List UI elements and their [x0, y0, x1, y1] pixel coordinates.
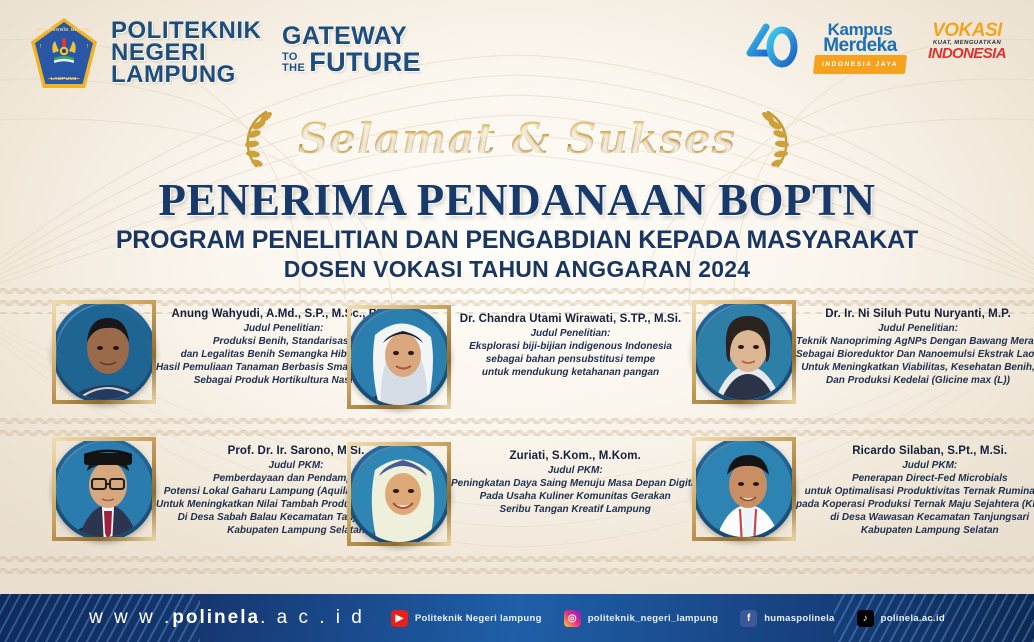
tagline-gateway-to-the-future: GATEWAY TO THE FUTURE	[282, 24, 421, 76]
url-suffix: . a c . i d	[260, 607, 365, 628]
url-brand: polinela	[172, 607, 260, 628]
footer: w w w .polinela. a c . i d ▶ Politeknik …	[0, 594, 1034, 642]
youtube-icon: ▶	[391, 610, 408, 627]
recipient-text: Ricardo Silaban, S.Pt., M.Si. Judul PKM:…	[796, 437, 1034, 537]
recipient-photo	[52, 437, 156, 541]
recipient-label: Judul Penelitian:	[451, 327, 690, 340]
recipient-photo	[347, 442, 451, 546]
recipients-row-2: Prof. Dr. Ir. Sarono, M.Si. Judul PKM: P…	[0, 433, 1034, 546]
recipient-card: Prof. Dr. Ir. Sarono, M.Si. Judul PKM: P…	[0, 433, 345, 546]
subtitle-line-2: DOSEN VOKASI TAHUN ANGGARAN 2024	[0, 255, 1034, 283]
url-prefix: w w w .	[89, 607, 172, 628]
recipient-photo	[692, 437, 796, 541]
recipient-card: Anung Wahyudi, A.Md., S.P., M.Sc., Ph.D …	[0, 296, 345, 436]
recipient-title-line: di Desa Wawasan Kecamatan Tanjungsari	[796, 511, 1034, 524]
recipient-title-line: sebagai bahan pensubstitusi tempe	[451, 353, 690, 366]
recipient-label: Judul PKM:	[796, 459, 1034, 472]
institution-name: POLITEKNIK NEGERI LAMPUNG	[111, 20, 261, 86]
avatar	[52, 437, 156, 541]
avatar	[692, 300, 796, 404]
facebook-icon: f	[740, 610, 757, 627]
recipient-title-line: untuk mendukung ketahanan pangan	[451, 366, 690, 379]
vokasi-line-3: INDONESIA	[922, 46, 1012, 61]
poster-canvas: POLITEKNIK NEGERI LAMPUNG POLITEKNIK NEG…	[0, 0, 1034, 642]
recipient-title-line: untuk Optimalisasi Produktivitas Ternak …	[796, 485, 1034, 498]
recipient-text: Dr. Ir. Ni Siluh Putu Nuryanti, M.P. Jud…	[796, 300, 1034, 387]
avatar	[347, 442, 451, 546]
recipient-title-line: Teknik Nanopriming AgNPs Dengan Bawang M…	[796, 335, 1034, 348]
wreath-left-icon	[226, 108, 282, 170]
seal-top-text: POLITEKNIK NEGERI	[31, 27, 97, 32]
recipient-card: Dr. Ir. Ni Siluh Putu Nuryanti, M.P. Jud…	[690, 296, 1034, 436]
social-handle: Politeknik Negeri lampung	[415, 613, 542, 624]
recipient-title-line: pada Koperasi Produksi Ternak Maju Sejah…	[796, 498, 1034, 511]
recipient-text: Dr. Chandra Utami Wirawati, S.TP., M.Si.…	[451, 305, 690, 379]
social-handle: politeknik_negeri_lampung	[588, 613, 719, 624]
partner-logos: Kampus Merdeka INDONESIA JAYA VOKASI KUA…	[742, 21, 1012, 71]
social-links: ▶ Politeknik Negeri lampung ◎ politeknik…	[391, 610, 945, 627]
website-url[interactable]: w w w .polinela. a c . i d	[89, 607, 365, 629]
recipient-photo	[347, 305, 451, 409]
vokasi-logo: VOKASI KUAT, MENGUATKAN INDONESIA	[922, 22, 1012, 70]
social-link-facebook[interactable]: f humaspolinela	[740, 610, 834, 627]
recipient-name: Zuriati, S.Kom., M.Kom.	[451, 450, 699, 462]
social-handle: humaspolinela	[764, 613, 834, 624]
recipient-text: Zuriati, S.Kom., M.Kom. Judul PKM: Penin…	[451, 442, 699, 516]
recipient-title-line: Kabupaten Lampung Selatan	[796, 524, 1034, 537]
tagline-line-2: FUTURE	[309, 49, 421, 76]
vokasi-line-2: KUAT, MENGUATKAN	[922, 40, 1012, 46]
social-link-instagram[interactable]: ◎ politeknik_negeri_lampung	[564, 610, 719, 627]
tagline-small-the: THE	[282, 63, 305, 74]
recipient-card: Ricardo Silaban, S.Pt., M.Si. Judul PKM:…	[690, 433, 1034, 546]
main-title: PENERIMA PENDANAAN BOPTN	[0, 175, 1034, 225]
recipient-card: Dr. Chandra Utami Wirawati, S.TP., M.Si.…	[345, 296, 690, 436]
recipient-card: Zuriati, S.Kom., M.Kom. Judul PKM: Penin…	[345, 433, 690, 546]
recipient-title-line: Sebagai Bioreduktor Dan Nanoemulsi Ekstr…	[796, 348, 1034, 361]
avatar	[52, 300, 156, 404]
kampus-merdeka-logo: Kampus Merdeka INDONESIA JAYA	[814, 22, 906, 70]
institution-name-line-3: LAMPUNG	[111, 64, 261, 86]
polinela-seal-icon: POLITEKNIK NEGERI LAMPUNG	[31, 18, 97, 88]
anniversary-40-icon	[742, 21, 798, 71]
wreath-right-icon	[752, 108, 808, 170]
recipient-name: Dr. Chandra Utami Wirawati, S.TP., M.Si.	[451, 313, 690, 325]
recipient-title-line: Eksplorasi biji-bijian indigenous Indone…	[451, 340, 690, 353]
recipient-label: Judul PKM:	[451, 464, 699, 477]
script-heading-row: Selamat & Sukses	[0, 105, 1034, 173]
title-block: Selamat & Sukses PENERIMA PENDANAAN BOPT…	[0, 105, 1034, 283]
subtitle-line-1: PROGRAM PENELITIAN DAN PENGABDIAN KEPADA…	[0, 225, 1034, 255]
recipient-title-line: Penerapan Direct-Fed Microbials	[796, 472, 1034, 485]
tiktok-icon: ♪	[857, 610, 874, 627]
avatar	[347, 305, 451, 409]
recipient-title-line: Pada Usaha Kuliner Komunitas Gerakan	[451, 490, 699, 503]
recipient-title-line: Untuk Meningkatkan Viabilitas, Kesehatan…	[796, 361, 1034, 374]
social-link-youtube[interactable]: ▶ Politeknik Negeri lampung	[391, 610, 542, 627]
recipient-title-line: Seribu Tangan Kreatif Lampung	[451, 503, 699, 516]
recipient-name: Ricardo Silaban, S.Pt., M.Si.	[796, 445, 1034, 457]
seal-bottom-text: LAMPUNG	[31, 76, 97, 81]
social-handle: polinela.ac.id	[881, 613, 945, 624]
recipient-name: Dr. Ir. Ni Siluh Putu Nuryanti, M.P.	[796, 308, 1034, 320]
header: POLITEKNIK NEGERI LAMPUNG POLITEKNIK NEG…	[0, 0, 1034, 104]
recipient-label: Judul Penelitian:	[796, 322, 1034, 335]
script-heading: Selamat & Sukses	[288, 113, 746, 165]
recipient-title-line: Dan Produksi Kedelai (Glicine max (L))	[796, 374, 1034, 387]
recipient-photo	[692, 300, 796, 404]
recipient-photo	[52, 300, 156, 404]
social-link-tiktok[interactable]: ♪ polinela.ac.id	[857, 610, 945, 627]
instagram-icon: ◎	[564, 610, 581, 627]
kampus-merdeka-line-2: Merdeka	[814, 38, 906, 54]
avatar	[692, 437, 796, 541]
tagline-line-1: GATEWAY	[282, 24, 421, 49]
vokasi-line-1: VOKASI	[922, 22, 1012, 40]
recipient-title-line: Peningkatan Daya Saing Menuju Masa Depan…	[451, 477, 699, 490]
kampus-merdeka-line-3: INDONESIA JAYA	[813, 55, 907, 74]
institution-logo-group: POLITEKNIK NEGERI LAMPUNG POLITEKNIK NEG…	[31, 18, 261, 88]
